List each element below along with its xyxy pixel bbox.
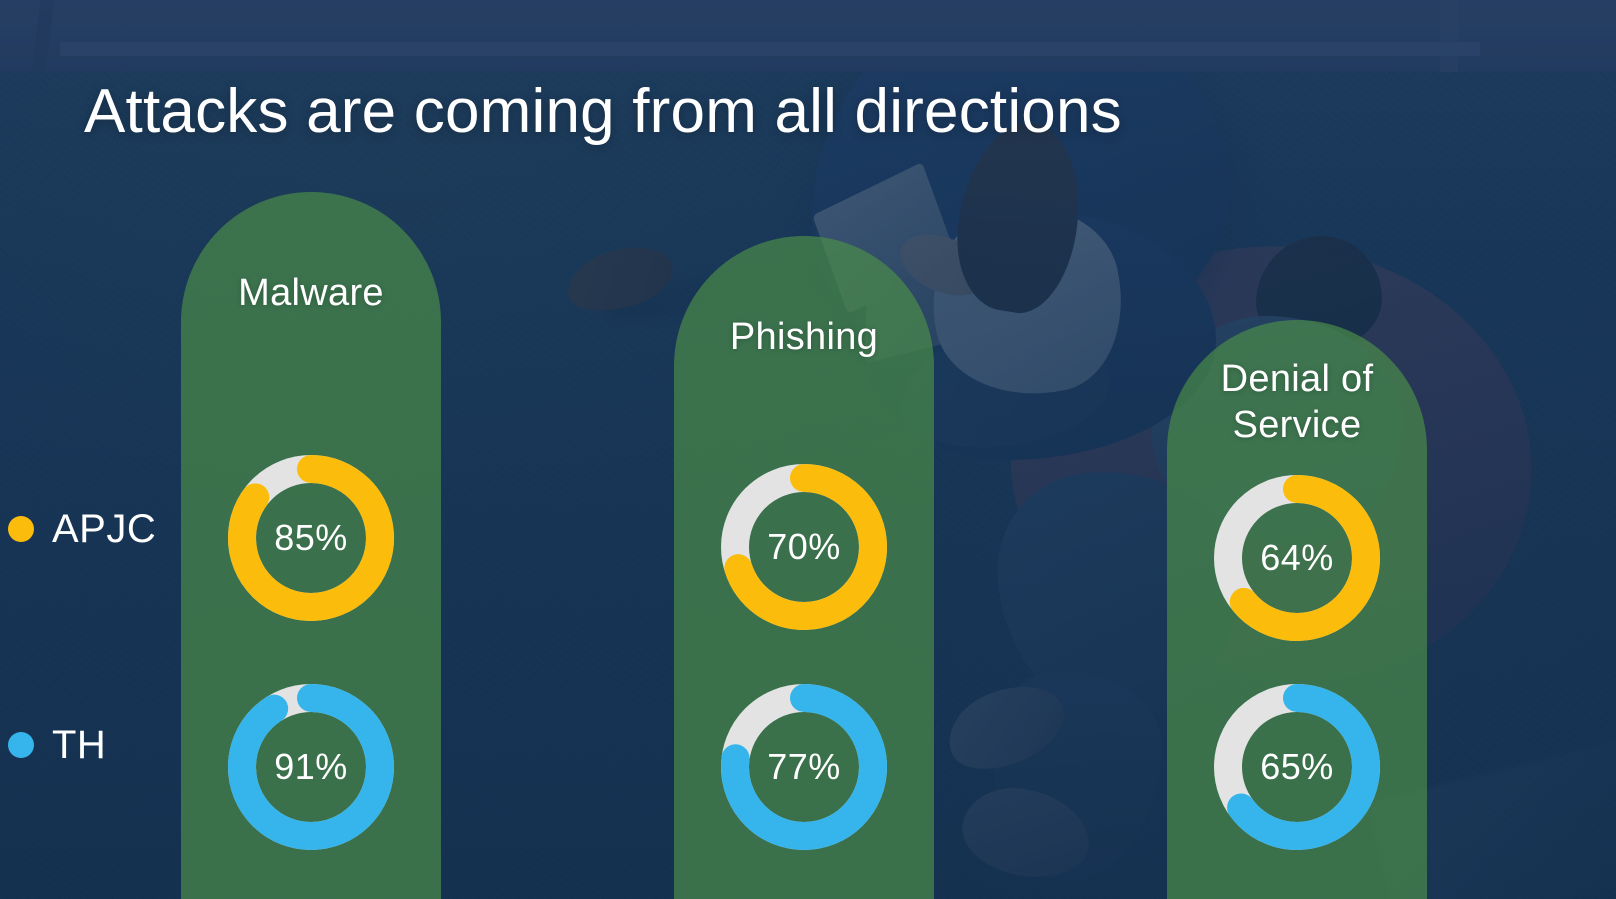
donut-phishing-th-svg [721,684,887,850]
category-card-malware[interactable]: Malware 85% 91% [181,192,441,899]
donut-denial-of-service-th-svg [1214,684,1380,850]
category-card-phishing[interactable]: Phishing 70% 77% [674,236,934,899]
legend: APJC TH [8,505,178,769]
blue-color-overlay-top [0,0,1616,72]
legend-label-th: TH [52,723,106,768]
donut-malware-th[interactable]: 91% [228,684,394,850]
card-title-line: Denial of [1167,356,1427,402]
card-title-phishing: Phishing [674,314,934,360]
card-inner-phishing: Phishing 70% 77% [674,236,934,899]
donut-malware-apjc-svg [228,455,394,621]
legend-dot-apjc-icon [8,516,34,542]
presentation-slide: Attacks are coming from all directions A… [0,0,1616,899]
donut-phishing-th[interactable]: 77% [721,684,887,850]
legend-item-apjc[interactable]: APJC [8,505,178,553]
donut-phishing-apjc-svg [721,464,887,630]
page-title: Attacks are coming from all directions [84,76,1122,147]
legend-item-th[interactable]: TH [8,721,178,769]
card-title-line: Malware [181,270,441,316]
donut-malware-apjc[interactable]: 85% [228,455,394,621]
donut-malware-th-svg [228,684,394,850]
card-title-line: Service [1167,402,1427,448]
card-inner-malware: Malware 85% 91% [181,192,441,899]
card-title-line: Phishing [674,314,934,360]
card-inner-denial-of-service: Denial of Service 64% 65% [1167,320,1427,899]
legend-dot-th-icon [8,732,34,758]
category-card-denial-of-service[interactable]: Denial of Service 64% 65% [1167,320,1427,899]
card-title-denial-of-service: Denial of Service [1167,356,1427,448]
legend-label-apjc: APJC [52,507,156,552]
donut-phishing-apjc[interactable]: 70% [721,464,887,630]
donut-denial-of-service-th[interactable]: 65% [1214,684,1380,850]
donut-denial-of-service-apjc-svg [1214,475,1380,641]
donut-denial-of-service-apjc[interactable]: 64% [1214,475,1380,641]
card-title-malware: Malware [181,270,441,316]
